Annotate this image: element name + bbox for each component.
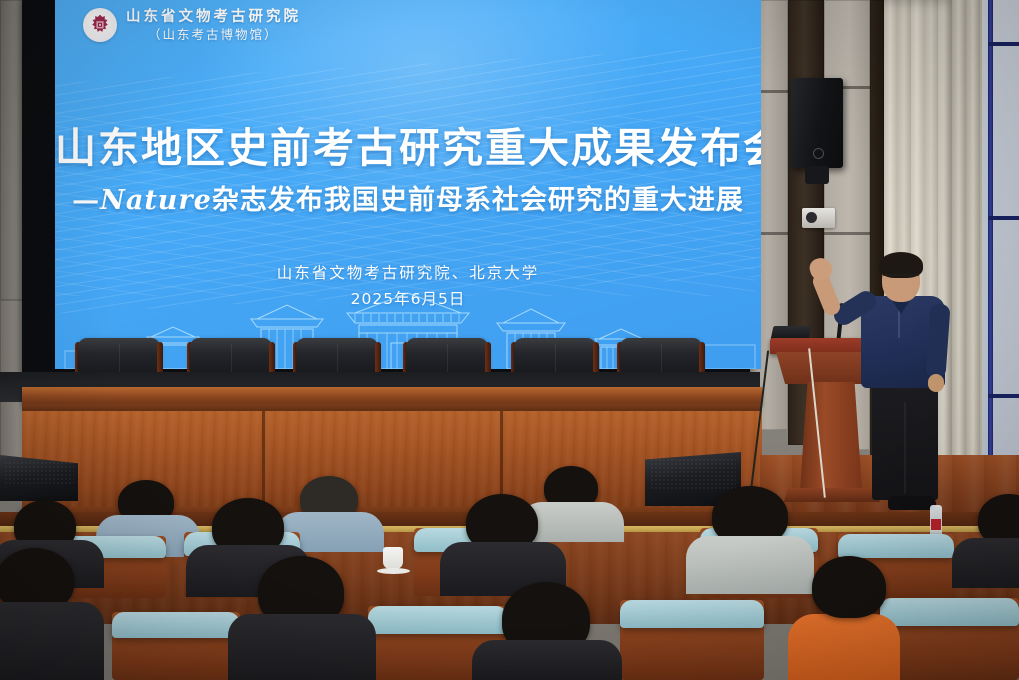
slide-subtitle-journal: Nature (100, 185, 212, 216)
audience-shoulders (0, 602, 104, 680)
audience-seat-back[interactable] (838, 534, 954, 558)
projection-screen: 山东省文物考古研究院 （山东考古博物馆） 山东地区史前考古研究重大成果发布会 —… (55, 0, 761, 369)
audience-shoulders (228, 614, 376, 680)
head-table-top (22, 387, 762, 405)
audience-head (812, 556, 886, 618)
presenter-right-hand (928, 374, 944, 392)
audience-seat-back[interactable] (112, 612, 240, 638)
glasses-icon (883, 274, 919, 283)
wall-seam (824, 232, 870, 235)
institute-seal-icon (83, 8, 117, 42)
slide-header: 山东省文物考古研究院 （山东考古博物馆） (83, 8, 301, 42)
slide-org-line-1: 山东省文物考古研究院 (126, 9, 301, 24)
audience-shoulders (472, 640, 622, 680)
coffee-saucer (377, 568, 410, 574)
head-table-seam (262, 411, 265, 511)
window-mullion-horizontal (988, 42, 1019, 46)
audience-shoulders (686, 536, 814, 594)
slide-credit-organizations: 山东省文物考古研究院、北京大学 (55, 261, 761, 283)
presenter (848, 252, 958, 520)
presenter-right-arm (925, 303, 950, 378)
audience-seat-back[interactable] (368, 606, 508, 634)
speaker-grille (4, 461, 74, 487)
projection-screen-bezel: 山东省文物考古研究院 （山东考古博物馆） 山东地区史前考古研究重大成果发布会 —… (22, 0, 750, 381)
slide-subtitle-prefix: — (72, 185, 100, 216)
slide-subtitle: —Nature杂志发布我国史前母系社会研究的重大进展 (55, 178, 761, 217)
presenter-shoes (888, 496, 936, 510)
audience-seat-back[interactable] (620, 600, 764, 628)
conference-hall-photo: 山东省文物考古研究院 （山东考古博物馆） 山东地区史前考古研究重大成果发布会 —… (0, 0, 1019, 680)
slide-title: 山东地区史前考古研究重大成果发布会 (55, 114, 761, 174)
presenter-leg-split (904, 402, 906, 494)
audience-shoulders-orange-jacket (788, 614, 900, 680)
window-mullion-horizontal (988, 216, 1019, 220)
audience-shoulders (952, 538, 1019, 588)
window-mullion-horizontal (988, 394, 1019, 398)
slide-subtitle-rest: 杂志发布我国史前母系社会研究的重大进展 (212, 185, 744, 216)
speaker-grille (650, 458, 736, 488)
coffee-cup (383, 547, 403, 569)
audience-seat-back[interactable] (880, 598, 1019, 626)
slide-org-line-2: （山东考古博物馆） (148, 28, 301, 41)
slide-org-names: 山东省文物考古研究院 （山东考古博物馆） (126, 9, 301, 40)
wall-speaker-icon (791, 78, 843, 168)
speaker-mount (805, 166, 829, 184)
camera-lens-icon (806, 212, 817, 223)
